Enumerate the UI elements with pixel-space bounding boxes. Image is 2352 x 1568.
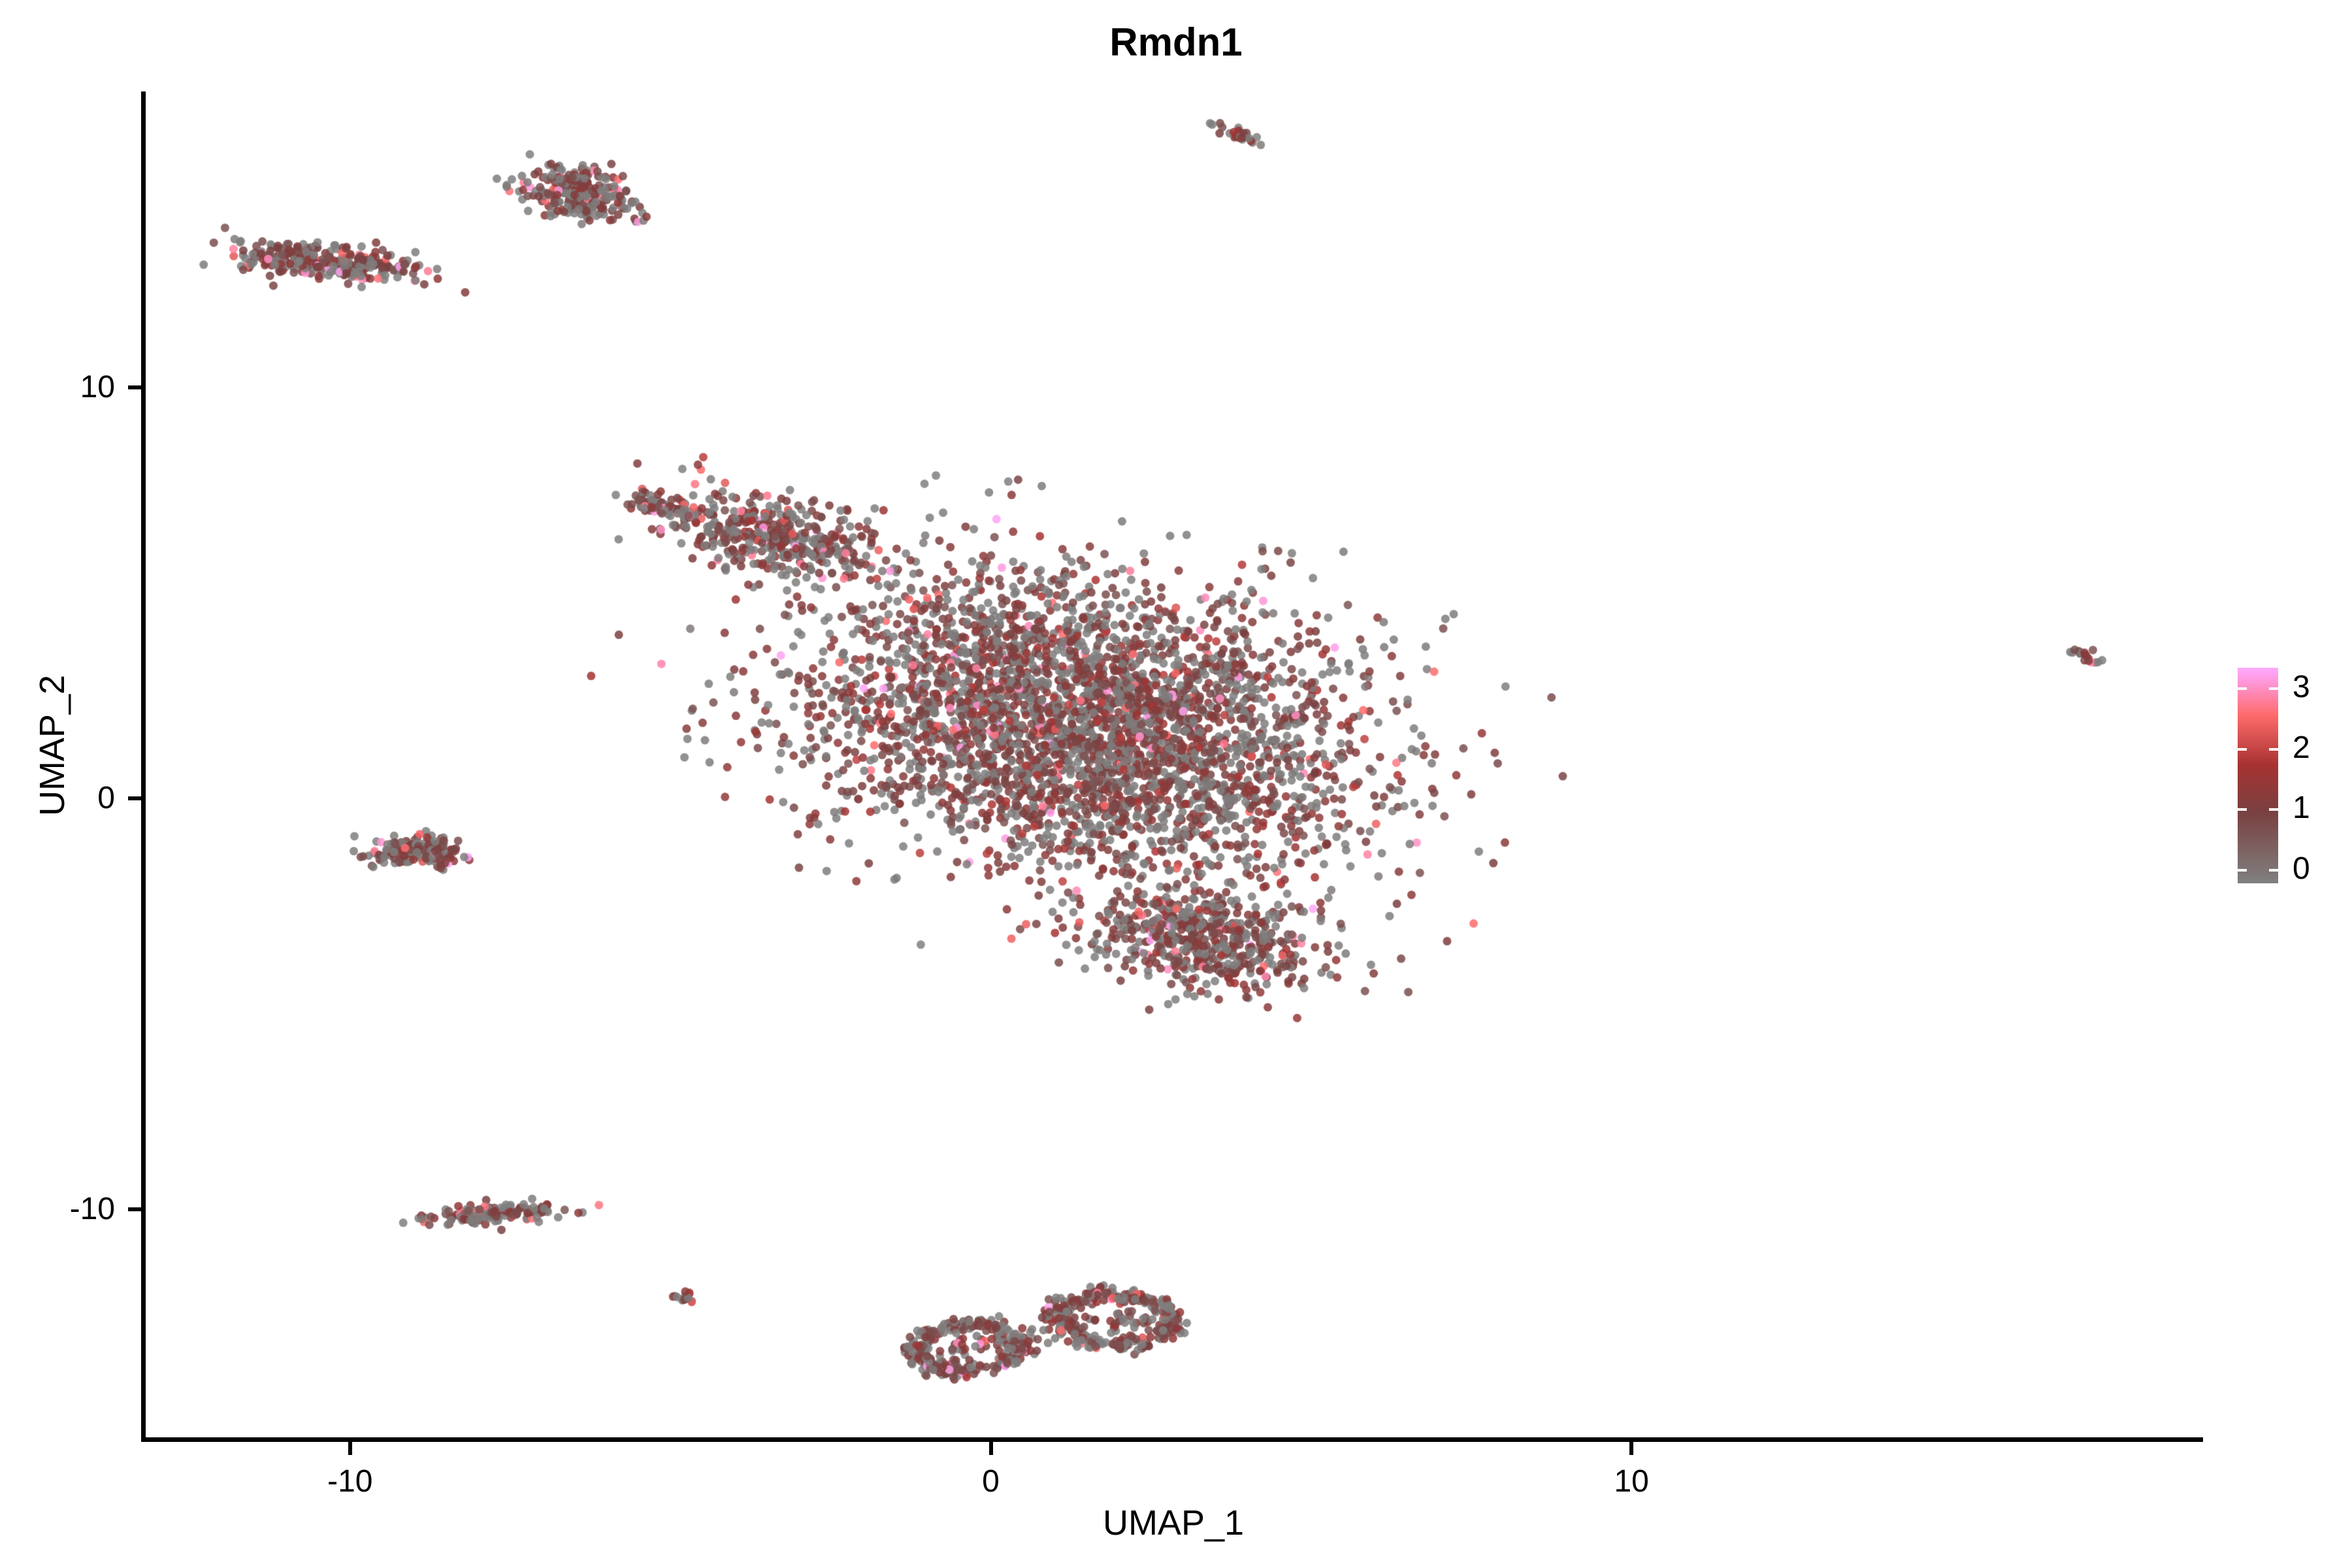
colorbar-tick-break xyxy=(2238,808,2247,811)
plot-panel xyxy=(145,91,2202,1439)
colorbar-label-0: 0 xyxy=(2293,853,2310,885)
x-tick-label: -10 xyxy=(272,1463,429,1499)
x-tick-mark xyxy=(989,1442,993,1455)
x-axis-title: UMAP_1 xyxy=(145,1503,2202,1543)
scatter-points-canvas xyxy=(145,91,2202,1439)
y-tick-mark xyxy=(128,385,141,389)
y-tick-label: -10 xyxy=(0,1191,115,1227)
y-axis-line xyxy=(141,91,146,1441)
x-tick-label: 0 xyxy=(913,1463,1070,1499)
colorbar-tick-break xyxy=(2238,869,2247,872)
x-tick-mark xyxy=(348,1442,352,1455)
umap-feature-plot: Rmdn1 -10010-10010 UMAP_1 UMAP_2 0123 xyxy=(0,0,2352,1568)
colorbar-tick-break xyxy=(2238,687,2247,690)
x-tick-label: 10 xyxy=(1553,1463,1710,1499)
colorbar-tick-break xyxy=(2269,687,2278,690)
color-legend: 0123 xyxy=(2238,668,2336,883)
colorbar-tick-break xyxy=(2269,869,2278,872)
colorbar-tick-break xyxy=(2238,748,2247,751)
colorbar-tick-break xyxy=(2269,808,2278,811)
y-axis-title: UMAP_2 xyxy=(32,386,73,1105)
colorbar-label-3: 3 xyxy=(2293,672,2310,703)
page-title: Rmdn1 xyxy=(0,20,2352,65)
x-tick-mark xyxy=(1629,1442,1633,1455)
colorbar-tick-break xyxy=(2269,748,2278,751)
x-axis-line xyxy=(141,1437,2203,1442)
colorbar-label-1: 1 xyxy=(2293,792,2310,824)
y-tick-mark xyxy=(128,796,141,800)
colorbar-label-2: 2 xyxy=(2293,732,2310,764)
y-tick-mark xyxy=(128,1207,141,1211)
colorbar-gradient xyxy=(2238,668,2278,883)
